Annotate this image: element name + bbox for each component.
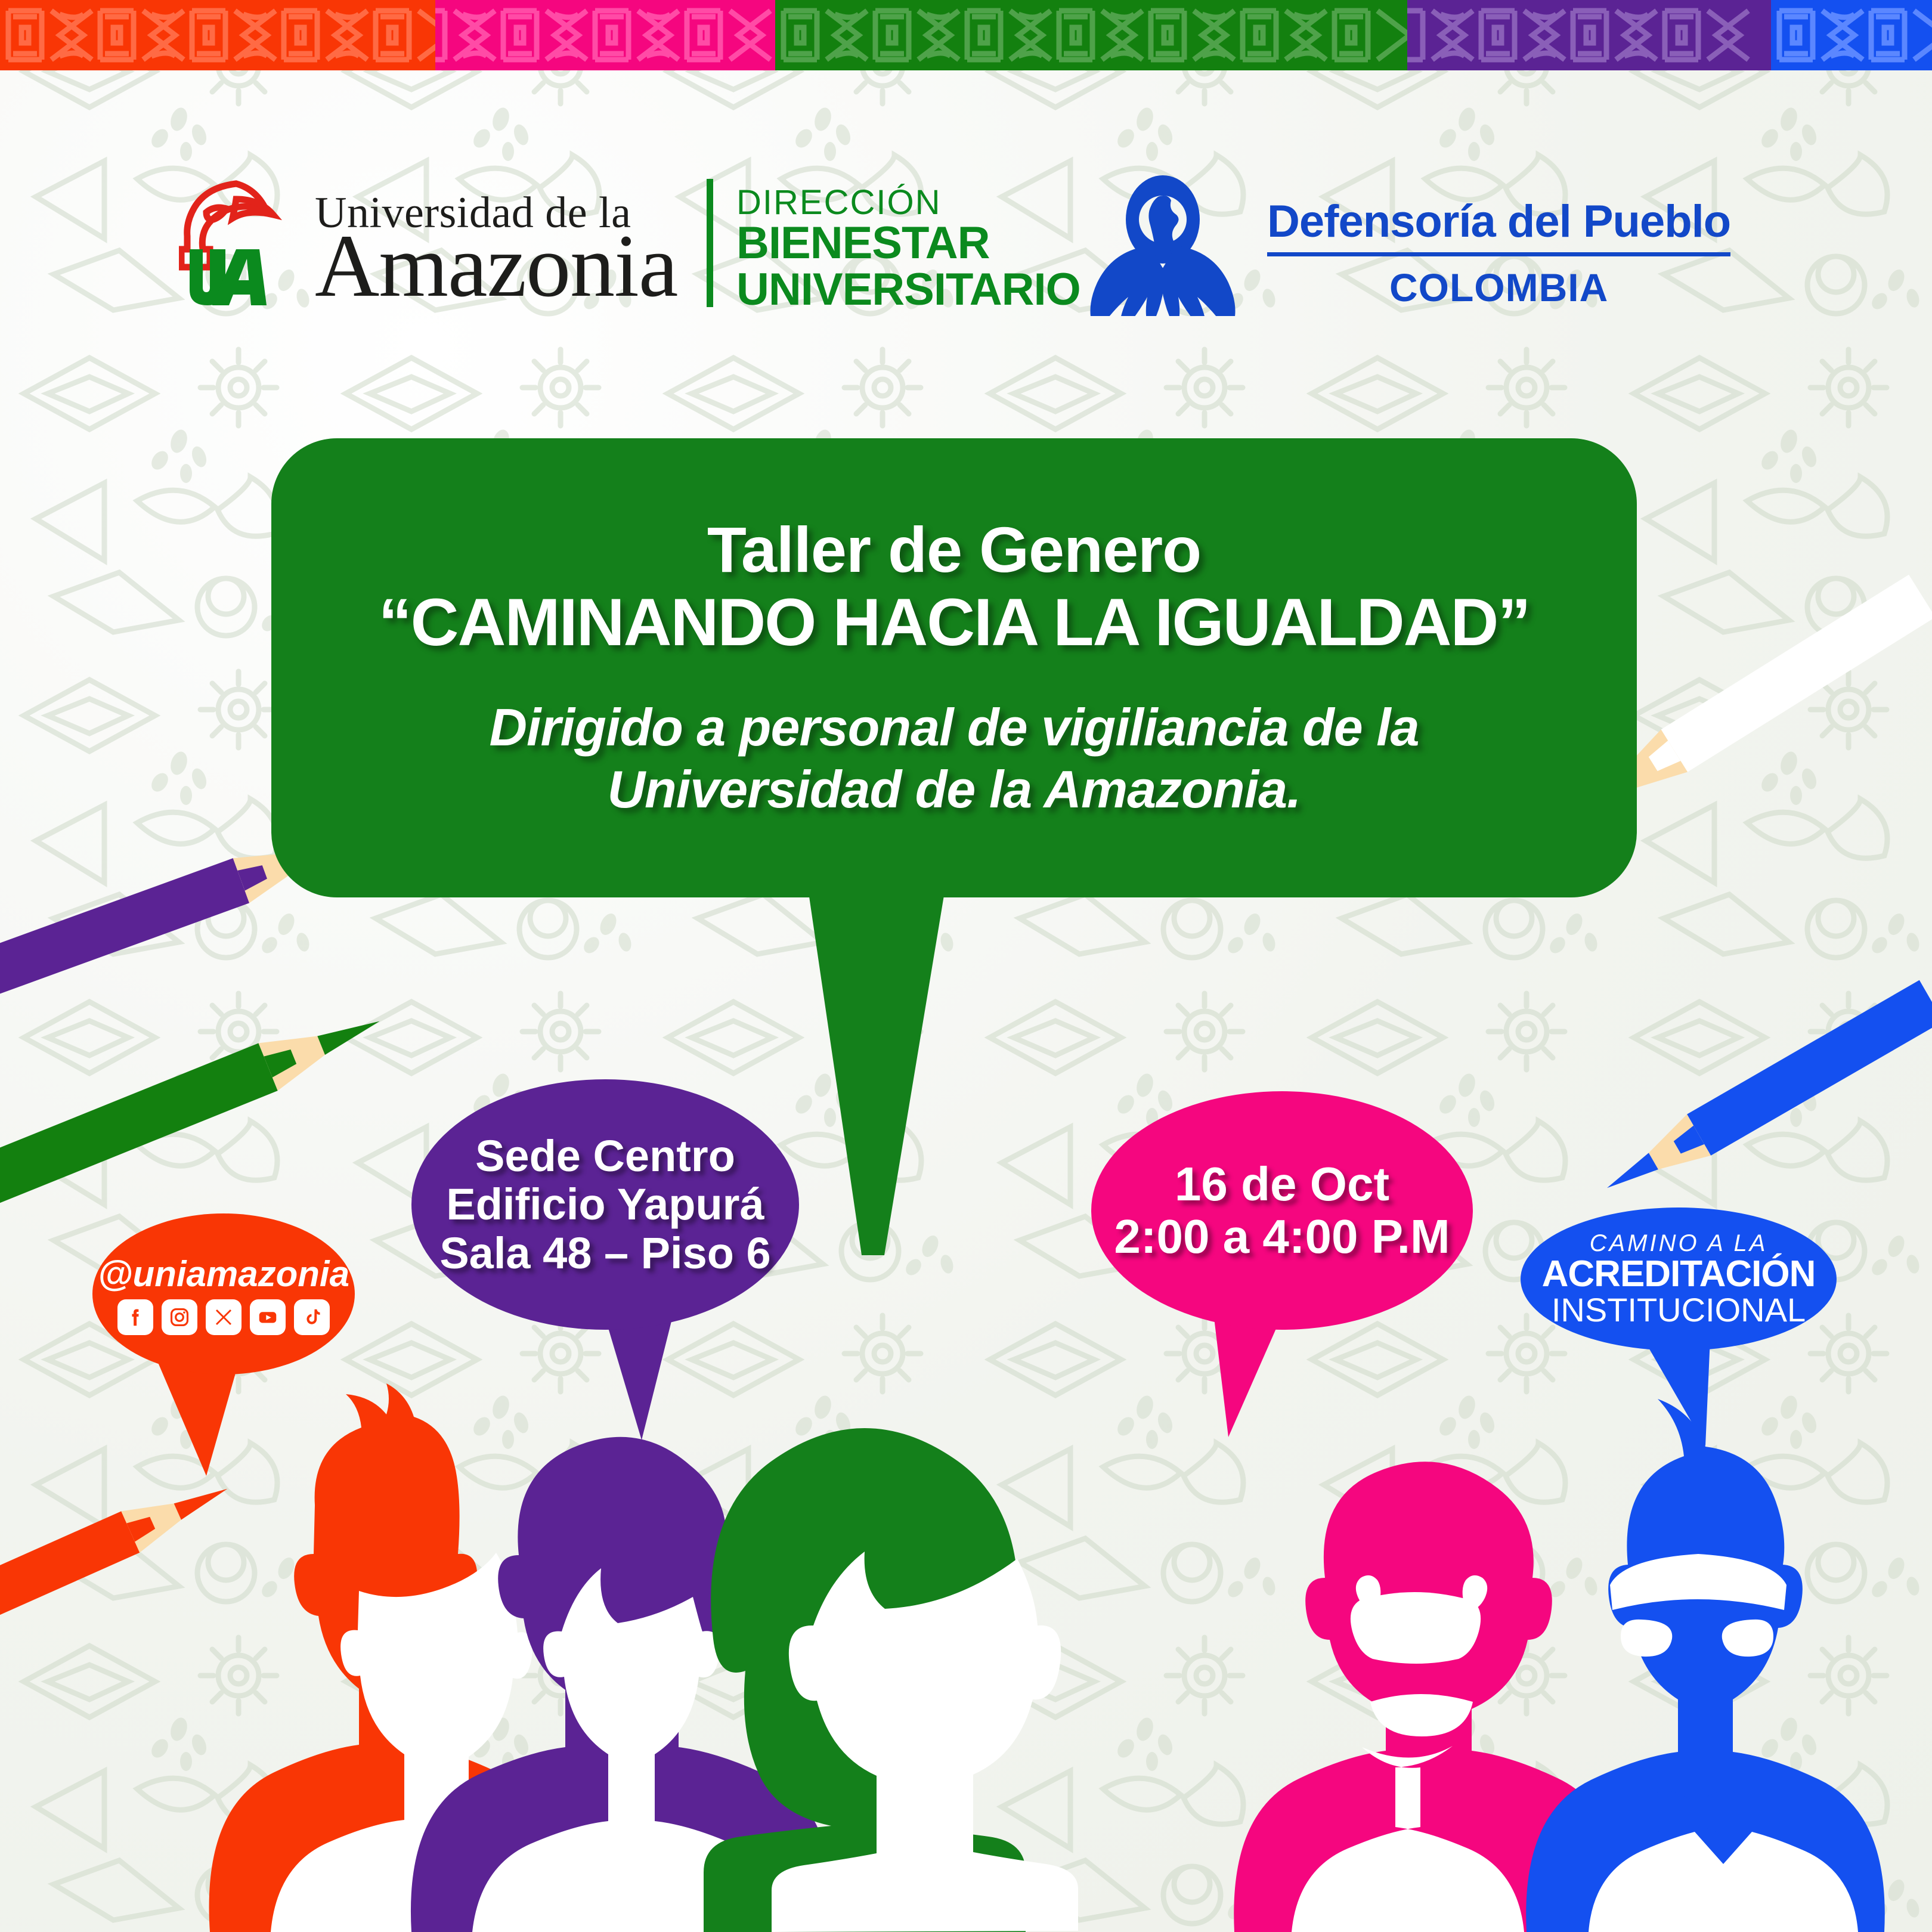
workshop-title: Taller de Genero: [707, 515, 1201, 584]
logo-divider: [707, 179, 713, 307]
venue-line1: Sede Centro: [475, 1132, 735, 1180]
tiktok-icon[interactable]: [294, 1299, 330, 1335]
instagram-icon[interactable]: [162, 1299, 197, 1335]
venue-bubble: Sede Centro Edificio Yapurá Sala 48 – Pi…: [411, 1079, 799, 1330]
schedule-date: 16 de Oct: [1175, 1158, 1389, 1210]
schedule-bubble: 16 de Oct 2:00 a 4:00 P.M: [1091, 1091, 1473, 1330]
person-green-long-hair: [704, 1428, 1078, 1932]
border-segment-red: [0, 0, 435, 70]
border-segment-blue: [1771, 0, 1932, 70]
x-twitter-icon[interactable]: [206, 1299, 241, 1335]
venue-line3: Sala 48 – Piso 6: [439, 1229, 770, 1277]
speech-bubble-tail: [808, 888, 963, 1258]
welfare-office-block: DIRECCIÓN BIENESTAR UNIVERSITARIO: [736, 185, 1080, 312]
border-segment-pink: [435, 0, 775, 70]
university-logo: Universidad de la Amazonia: [179, 179, 677, 307]
welfare-line-direccion: DIRECCIÓN: [736, 185, 1080, 220]
welfare-line-universitario: UNIVERSITARIO: [736, 267, 1080, 313]
workshop-audience: Dirigido a personal de vigiliancia de la…: [489, 696, 1419, 821]
ombudsman-country: COLOMBIA: [1267, 265, 1730, 310]
person-blue-glasses-bowtie: [1526, 1399, 1885, 1932]
top-color-border: [0, 0, 1932, 70]
social-icon-row: [117, 1299, 330, 1335]
ombudsman-text-block: Defensoría del Pueblo COLOMBIA: [1267, 196, 1730, 310]
schedule-time: 2:00 a 4:00 P.M: [1114, 1210, 1450, 1263]
accreditation-line2: ACREDITACIÓN: [1542, 1255, 1816, 1293]
toucan-logo-icon: [179, 179, 304, 307]
venue-line2: Edificio Yapurá: [446, 1180, 764, 1228]
ombudsman-name: Defensoría del Pueblo: [1267, 196, 1730, 256]
accreditation-bubble: CAMINO A LA ACREDITACIÓN INSTITUCIONAL: [1521, 1207, 1837, 1351]
border-segment-green: [775, 0, 1407, 70]
defensoria-wings-icon: [1073, 173, 1252, 316]
accreditation-line1: CAMINO A LA: [1590, 1231, 1768, 1255]
workshop-audience-line2: Universidad de la Amazonia.: [489, 758, 1419, 821]
facebook-icon[interactable]: [117, 1299, 153, 1335]
poster-canvas: Universidad de la Amazonia DIRECCIÓN BIE…: [0, 0, 1932, 1932]
accreditation-line3: INSTITUCIONAL: [1552, 1293, 1806, 1327]
main-announcement-bubble: Taller de Genero “CAMINANDO HACIA LA IGU…: [271, 438, 1637, 897]
social-media-bubble: @uniamazonia: [92, 1213, 355, 1374]
social-handle: @uniamazonia: [98, 1253, 349, 1295]
workshop-audience-line1: Dirigido a personal de vigiliancia de la: [489, 696, 1419, 758]
university-name-line2: Amazonia: [315, 225, 677, 307]
youtube-icon[interactable]: [250, 1299, 286, 1335]
workshop-slogan: “CAMINANDO HACIA LA IGUALDAD”: [379, 587, 1530, 658]
border-segment-purple: [1407, 0, 1771, 70]
welfare-line-bienestar: BIENESTAR: [736, 220, 1080, 267]
